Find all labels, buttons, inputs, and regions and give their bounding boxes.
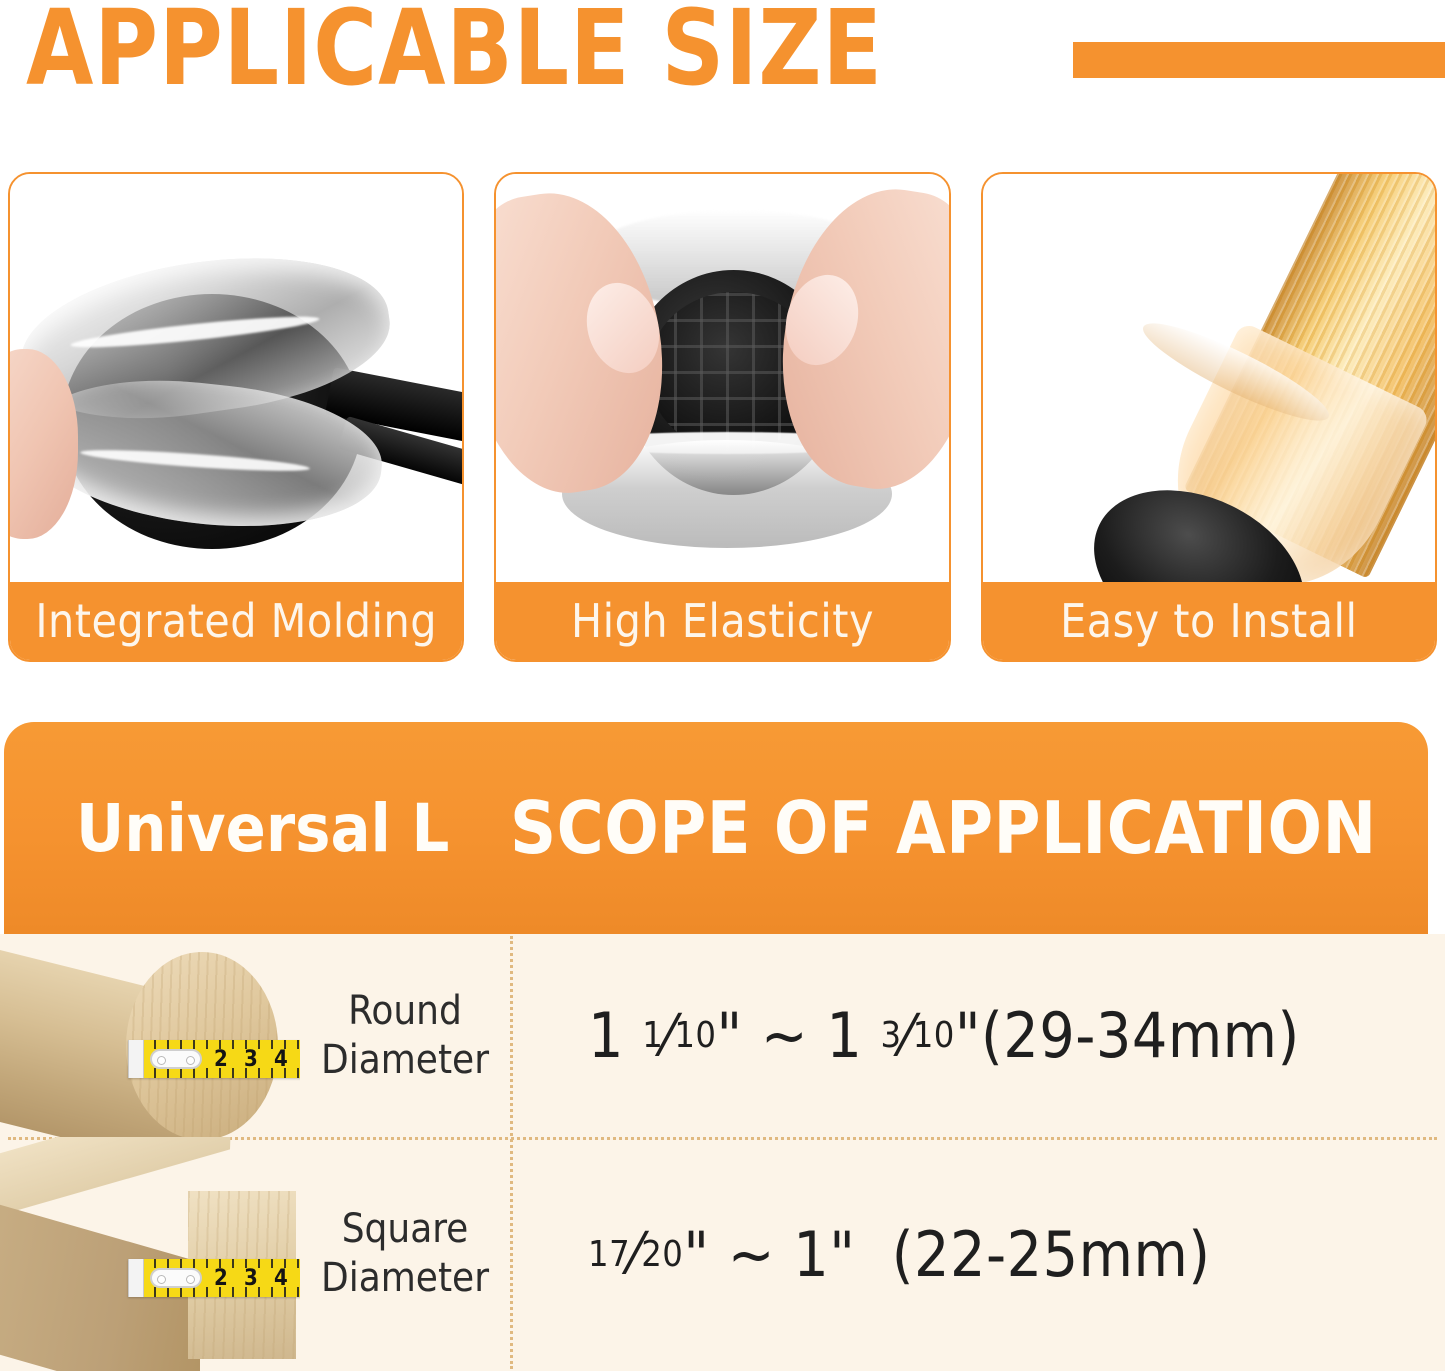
- table-row-round-diameter: 2 3 4 5 Round Diameter 1 1⁄10" ~ 1 3⁄10"…: [0, 934, 1445, 1137]
- page-title: APPLICABLE SIZE: [26, 0, 883, 103]
- tape-measure-square: 2 3 4 5: [128, 1259, 300, 1297]
- value-unit-b: ": [829, 1218, 855, 1291]
- row-label-line1: Square: [300, 1205, 510, 1254]
- row-value-square-diameter: 17⁄20" ~ 1" (22-25mm): [510, 1218, 1445, 1291]
- size-table: 2 3 4 5 Round Diameter 1 1⁄10" ~ 1 3⁄10"…: [0, 934, 1445, 1371]
- value-range-separator: ~: [761, 999, 808, 1072]
- value-whole-b: 1: [793, 1218, 829, 1291]
- fraction-a-numerator: 17: [588, 1234, 630, 1275]
- value-metric: (22-25mm): [892, 1218, 1211, 1291]
- tape-clip: [150, 1049, 202, 1069]
- value-metric: (29-34mm): [981, 999, 1300, 1072]
- header-accent-rule: [1073, 42, 1445, 78]
- row-label-line2: Diameter: [300, 1254, 510, 1303]
- fraction-a-slash: ⁄: [630, 1221, 641, 1287]
- row-label-round-diameter: Round Diameter: [300, 987, 510, 1085]
- feature-card-easy-to-install: Easy to Install: [981, 172, 1437, 662]
- value-whole-a: 1: [588, 999, 624, 1072]
- row-label-line2: Diameter: [300, 1036, 510, 1085]
- feature-caption-high-elasticity: High Elasticity: [496, 582, 948, 660]
- tape-number-3: 3: [244, 1266, 258, 1291]
- stretched-cap-illustration: [496, 174, 948, 582]
- size-name-label: Universal L: [4, 790, 510, 867]
- tape-number-3: 3: [244, 1047, 258, 1072]
- fraction-b-numerator: 3: [881, 1015, 902, 1056]
- tape-hook: [128, 1259, 144, 1297]
- feature-caption-integrated-molding: Integrated Molding: [10, 582, 462, 660]
- tape-number-2: 2: [214, 1047, 228, 1072]
- fraction-b-denominator: 10: [913, 1015, 955, 1056]
- easy-to-install-photo: [983, 174, 1435, 582]
- high-elasticity-photo: [496, 174, 948, 582]
- integrated-molding-photo: [10, 174, 462, 582]
- fraction-a-denominator: 20: [641, 1234, 683, 1275]
- value-fraction-a: 1⁄10: [642, 1003, 716, 1069]
- feature-card-integrated-molding: Integrated Molding: [8, 172, 464, 662]
- header: APPLICABLE SIZE: [0, 0, 1445, 150]
- scope-heading: SCOPE OF APPLICATION: [510, 786, 1419, 870]
- value-fraction-a: 17⁄20: [588, 1221, 683, 1287]
- fraction-a-numerator: 1: [642, 1015, 663, 1056]
- tape-number-2: 2: [214, 1266, 228, 1291]
- round-leg-illustration: [0, 944, 276, 1124]
- fraction-a-slash: ⁄: [663, 1003, 674, 1069]
- row-value-round-diameter: 1 1⁄10" ~ 1 3⁄10"(29-34mm): [510, 999, 1445, 1072]
- tape-number-4: 4: [274, 1266, 288, 1291]
- value-unit-a: ": [683, 1218, 709, 1291]
- row-label-line1: Round: [300, 987, 510, 1036]
- folded-cap-illustration: [10, 174, 462, 582]
- feature-caption-easy-to-install: Easy to Install: [983, 582, 1435, 660]
- tape-clip: [150, 1268, 202, 1288]
- value-whole-b: 1: [826, 999, 862, 1072]
- tape-number-4: 4: [274, 1047, 288, 1072]
- table-row-square-diameter: 2 3 4 5 Square Diameter 17⁄20" ~ 1" (22-…: [0, 1137, 1445, 1371]
- tape-hook: [128, 1040, 144, 1078]
- value-fraction-b: 3⁄10: [881, 1003, 955, 1069]
- scope-banner: Universal L SCOPE OF APPLICATION: [4, 722, 1428, 934]
- round-leg-photo: 2 3 4 5: [0, 934, 300, 1137]
- feature-panel-group: Integrated Molding High Elasticity: [8, 172, 1437, 662]
- value-unit-b: ": [955, 999, 981, 1072]
- row-label-square-diameter: Square Diameter: [300, 1205, 510, 1303]
- fraction-b-slash: ⁄: [902, 1003, 913, 1069]
- square-leg-photo: 2 3 4 5: [0, 1137, 300, 1371]
- fraction-a-denominator: 10: [674, 1015, 716, 1056]
- tape-measure-round: 2 3 4 5: [128, 1040, 300, 1078]
- value-unit-a: ": [717, 999, 743, 1072]
- chair-leg-illustration: [983, 174, 1435, 582]
- feature-card-high-elasticity: High Elasticity: [494, 172, 950, 662]
- value-range-separator: ~: [728, 1218, 775, 1291]
- table-column-divider-dotted: [510, 936, 513, 1369]
